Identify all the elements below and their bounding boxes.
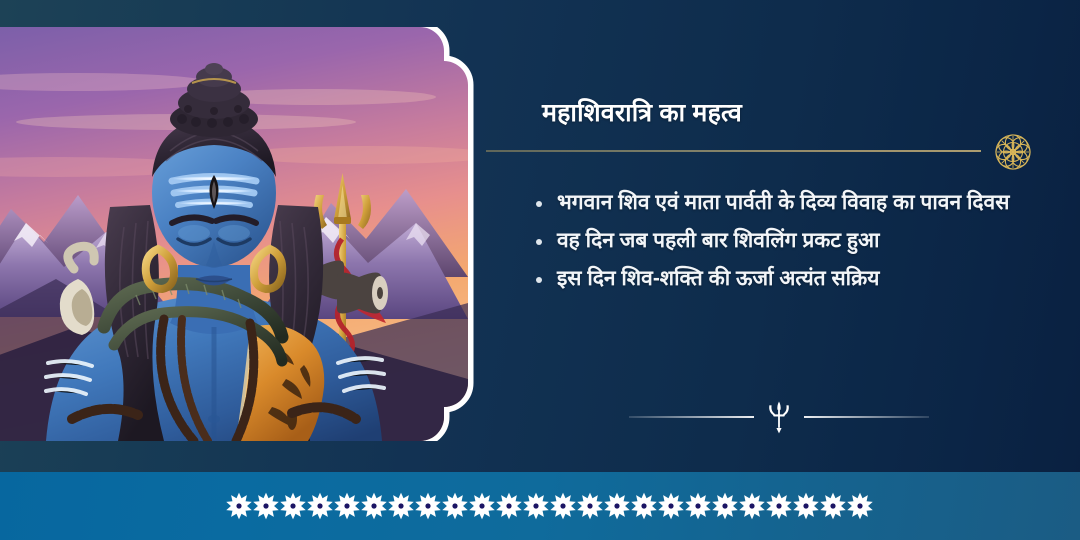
flower-icon xyxy=(576,492,604,520)
flower-row xyxy=(225,492,873,520)
mandala-rosette-icon xyxy=(991,130,1035,174)
flower-icon xyxy=(360,492,388,520)
flower-icon xyxy=(657,492,685,520)
flower-icon xyxy=(225,492,253,520)
flower-icon xyxy=(279,492,307,520)
flower-icon xyxy=(468,492,496,520)
flower-icon xyxy=(684,492,712,520)
flower-icon xyxy=(819,492,847,520)
flower-icon xyxy=(603,492,631,520)
flower-icon xyxy=(846,492,874,520)
bullet-list: भगवान शिव एवं माता पार्वती के दिव्य विवा… xyxy=(528,185,1068,299)
shiva-image-card xyxy=(0,27,486,441)
flower-icon xyxy=(414,492,442,520)
page-title: महाशिवरात्रि का महत्व xyxy=(542,95,742,129)
title-divider-rule xyxy=(486,150,981,152)
list-item: वह दिन जब पहली बार शिवलिंग प्रकट हुआ xyxy=(528,223,1068,259)
flower-icon xyxy=(549,492,577,520)
ornament-rule-left xyxy=(629,416,754,418)
flower-icon xyxy=(522,492,550,520)
flower-icon xyxy=(441,492,469,520)
list-item: भगवान शिव एवं माता पार्वती के दिव्य विवा… xyxy=(528,185,1068,221)
flower-icon xyxy=(630,492,658,520)
shiva-artwork xyxy=(0,27,486,441)
trishul-icon xyxy=(764,400,794,434)
bottom-ornament xyxy=(616,398,941,436)
flower-icon xyxy=(765,492,793,520)
flower-band xyxy=(0,472,1080,540)
flower-icon xyxy=(738,492,766,520)
flower-icon xyxy=(495,492,523,520)
flower-icon xyxy=(792,492,820,520)
flower-icon xyxy=(306,492,334,520)
ornament-rule-right xyxy=(804,416,929,418)
flower-icon xyxy=(252,492,280,520)
mahashivratri-poster: महाशिवरात्रि का महत्व भगवान शिव एवं माता… xyxy=(0,0,1080,540)
flower-icon xyxy=(333,492,361,520)
list-item: इस दिन शिव-शक्ति की ऊर्जा अत्यंत सक्रिय xyxy=(528,261,1068,297)
flower-icon xyxy=(711,492,739,520)
flower-icon xyxy=(387,492,415,520)
content-panel: महाशिवरात्रि का महत्व भगवान शिव एवं माता… xyxy=(486,0,1080,472)
